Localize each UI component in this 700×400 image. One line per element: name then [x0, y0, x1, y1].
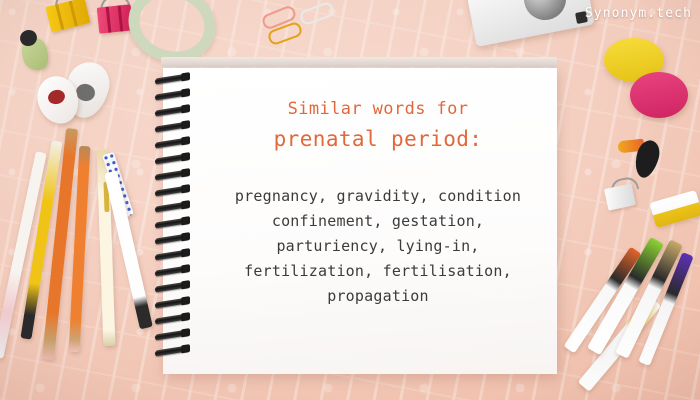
site-watermark: Synonym.tech [585, 6, 692, 21]
spiral-ring [155, 329, 188, 340]
macaron-pink-icon [630, 72, 688, 118]
spiral-ring [155, 233, 188, 244]
spiral-ring [155, 73, 188, 84]
note-title-prefix: Similar words for [203, 96, 553, 122]
synonym-line: propagation [203, 284, 553, 309]
synonym-list: pregnancy, gravidity, condition confinem… [203, 184, 553, 309]
notebook: Similar words for prenatal period: pregn… [155, 62, 557, 374]
spiral-ring [155, 105, 188, 116]
spiral-ring [155, 89, 188, 100]
spiral-ring [155, 185, 188, 196]
note-text-block: Similar words for prenatal period: pregn… [203, 96, 553, 309]
spiral-ring [155, 153, 188, 164]
synonym-line: fertilization, fertilisation, [203, 259, 553, 284]
spiral-ring [155, 121, 188, 132]
synonym-line: parturiency, lying-in, [203, 234, 553, 259]
note-search-term: prenatal period: [203, 124, 553, 154]
spiral-ring [155, 169, 188, 180]
notebook-page: Similar words for prenatal period: pregn… [163, 68, 557, 374]
spiral-ring [155, 281, 188, 292]
spiral-ring [155, 217, 188, 228]
spiral-ring [155, 345, 188, 356]
spiral-ring [155, 265, 188, 276]
synonym-line: confinement, gestation, [203, 209, 553, 234]
spiral-ring [155, 313, 188, 324]
spiral-ring [155, 201, 188, 212]
spiral-ring [155, 249, 188, 260]
synonym-card-image: Similar words for prenatal period: pregn… [0, 0, 700, 400]
notebook-spiral-binding [155, 76, 189, 366]
spiral-ring [155, 137, 188, 148]
notebook-back-cover [161, 57, 557, 67]
spiral-ring [155, 297, 188, 308]
synonym-line: pregnancy, gravidity, condition [203, 184, 553, 209]
